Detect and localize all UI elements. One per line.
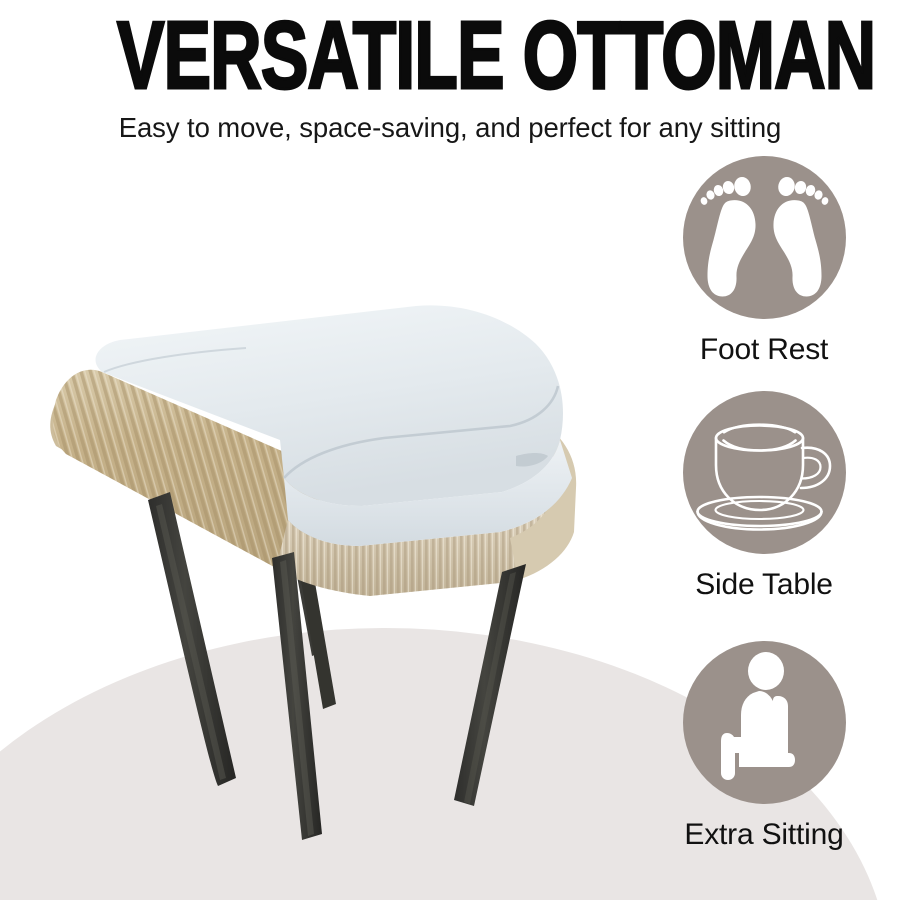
feature-label: Side Table [649,568,879,602]
feature-badge-circle [683,391,846,554]
feature-badge-circle [683,641,846,804]
feature-item-side-table: Side Table [649,391,879,602]
feature-label: Foot Rest [649,333,879,367]
page-subtitle: Easy to move, space-saving, and perfect … [0,112,900,144]
feature-label: Extra Sitting [649,818,879,852]
feature-item-extra-sitting: Extra Sitting [649,641,879,852]
page-title: VERSATILE OTTOMAN [117,8,783,104]
seated-person-icon [683,641,846,804]
product-image-ottoman [40,300,620,860]
leg-highlight-left [156,504,226,780]
feature-badge-circle [683,156,846,319]
teacup-icon [683,391,846,554]
footprints-icon [683,156,846,319]
leg-highlight-right [464,572,516,804]
infographic-canvas: VERSATILE OTTOMAN Easy to move, space-sa… [0,0,900,900]
feature-item-foot-rest: Foot Rest [649,156,879,367]
